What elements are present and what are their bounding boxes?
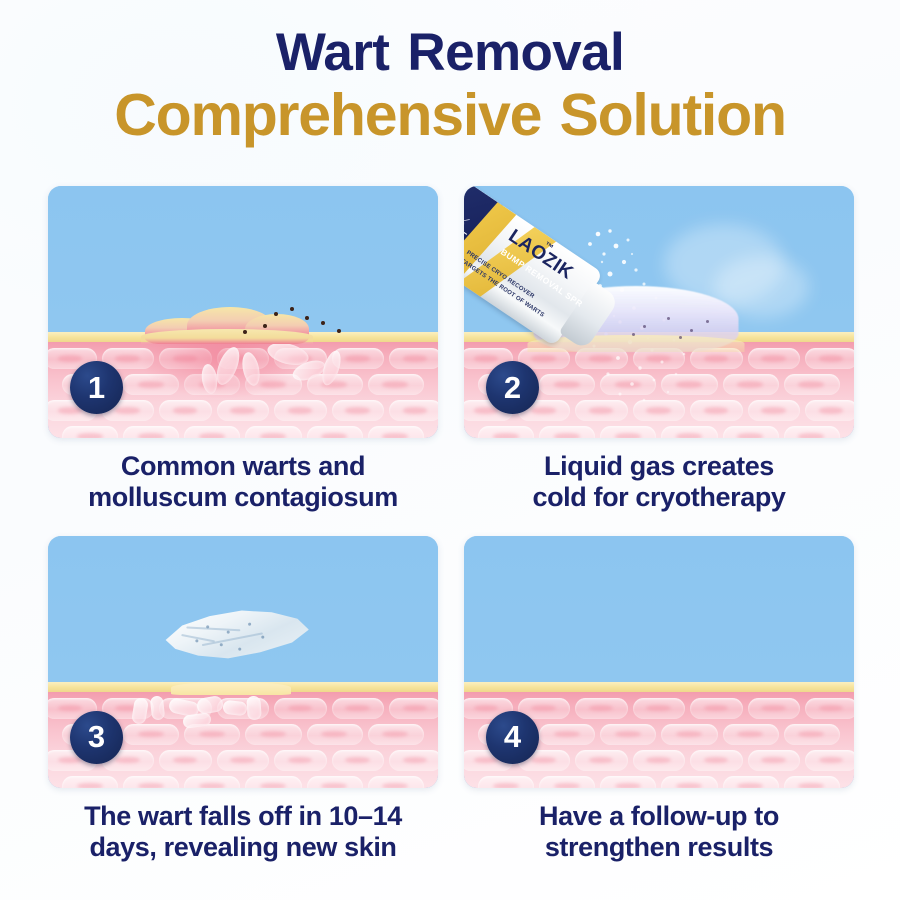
step-number-1: 1 [88, 372, 105, 403]
title-secondary: Comprehensive Solution [0, 86, 900, 145]
step-illustration-4: 4 [464, 536, 854, 788]
caption-line-1: The wart falls off in 10–14 [48, 801, 438, 832]
wart-lesion [141, 304, 313, 344]
page-header: Wart Removal Comprehensive Solution [0, 26, 900, 145]
step-card-3: 3 The wart falls off in 10–14 days, reve… [48, 536, 438, 864]
healing-skin-bump [171, 682, 291, 695]
infographic-page: Wart Removal Comprehensive Solution [0, 0, 900, 900]
step-illustration-3: 3 [48, 536, 438, 788]
caption-line-2: days, revealing new skin [48, 832, 438, 863]
step-card-2: LAOZIK ™ BUMP REMOVAL SPRAY PRECISE CRYO… [464, 186, 854, 514]
step-number-3: 3 [88, 721, 105, 752]
step-card-1: 1 Common warts and molluscum contagiosum [48, 186, 438, 514]
steps-grid: 1 Common warts and molluscum contagiosum [48, 186, 854, 863]
caption-line-2: strengthen results [464, 832, 854, 863]
step-illustration-1: 1 [48, 186, 438, 438]
step-caption-3: The wart falls off in 10–14 days, reveal… [48, 801, 438, 864]
regenerating-cells [127, 694, 277, 728]
caption-line-2: molluscum contagiosum [48, 482, 438, 513]
step-badge-2: 2 [486, 361, 539, 414]
step-number-4: 4 [504, 721, 521, 752]
caption-line-1: Common warts and [48, 451, 438, 482]
step-badge-1: 1 [70, 361, 123, 414]
step-caption-1: Common warts and molluscum contagiosum [48, 451, 438, 514]
step-card-4: 4 Have a follow-up to strengthen results [464, 536, 854, 864]
step-illustration-2: LAOZIK ™ BUMP REMOVAL SPRAY PRECISE CRYO… [464, 186, 854, 438]
caption-line-1: Liquid gas creates [464, 451, 854, 482]
step-badge-3: 3 [70, 711, 123, 764]
step-caption-2: Liquid gas creates cold for cryotherapy [464, 451, 854, 514]
caption-line-1: Have a follow-up to [464, 801, 854, 832]
step-badge-4: 4 [486, 711, 539, 764]
epidermis-layer [464, 682, 854, 692]
title-primary: Wart Removal [0, 26, 900, 79]
step-caption-4: Have a follow-up to strengthen results [464, 801, 854, 864]
caption-line-2: cold for cryotherapy [464, 482, 854, 513]
step-number-2: 2 [504, 372, 521, 403]
